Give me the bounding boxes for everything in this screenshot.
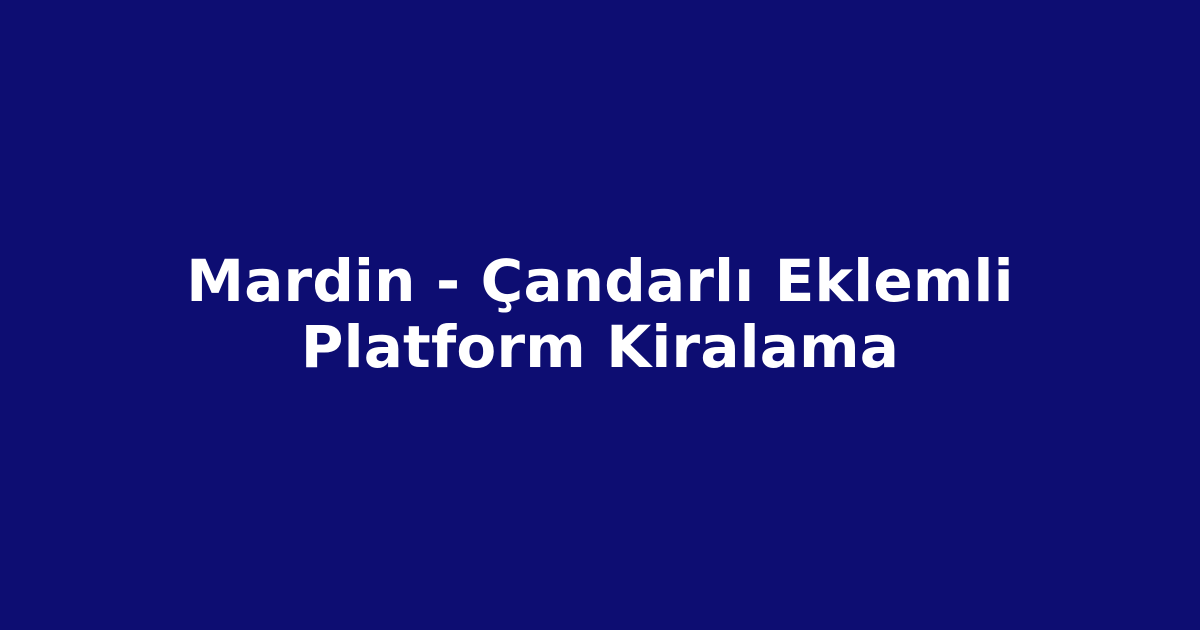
page-title: Mardin - Çandarlı Eklemli Platform Kiral…: [170, 249, 1030, 380]
headline-container: Mardin - Çandarlı Eklemli Platform Kiral…: [150, 249, 1050, 380]
og-banner-card: Mardin - Çandarlı Eklemli Platform Kiral…: [0, 0, 1200, 630]
